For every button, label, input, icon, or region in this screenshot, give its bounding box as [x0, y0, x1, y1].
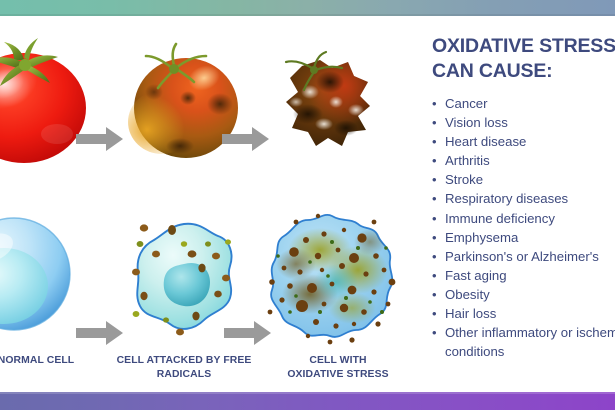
- oxidative-stress-cell-illustration: [266, 208, 402, 350]
- list-item: • Heart disease: [432, 132, 615, 151]
- list-item: • Arthritis: [432, 151, 615, 170]
- list-item: • Obesity: [432, 285, 615, 304]
- bullet-icon: •: [432, 209, 445, 228]
- list-item-label: Vision loss: [445, 113, 615, 132]
- list-item-label: Immune deficiency: [445, 209, 615, 228]
- bullet-icon: •: [432, 94, 445, 113]
- arrow-fresh-to-browning: [76, 126, 124, 152]
- rotten-tomato-illustration: [272, 44, 388, 162]
- bullet-icon: •: [432, 285, 445, 304]
- bullet-icon: •: [432, 189, 445, 208]
- bottom-gradient-bar: [0, 392, 615, 410]
- list-item: • Fast aging: [432, 266, 615, 285]
- causes-list: • Cancer • Vision loss • Heart disease •…: [432, 94, 615, 361]
- arrow-browning-to-rotten: [222, 126, 270, 152]
- bullet-icon: •: [432, 132, 445, 151]
- list-item: • Immune deficiency: [432, 209, 615, 228]
- list-item: • Parkinson's or Alzheimer's: [432, 247, 615, 266]
- list-item: • Respiratory diseases: [432, 189, 615, 208]
- list-item-label: Hair loss: [445, 304, 615, 323]
- list-item-label: Other inflammatory or ischemic: [445, 325, 615, 340]
- arrow-attacked-to-oxidative: [224, 320, 272, 346]
- caption-attacked-cell: CELL ATTACKED BY FREE RADICALS: [108, 354, 260, 381]
- list-item-label: Cancer: [445, 94, 615, 113]
- list-item-label: Arthritis: [445, 151, 615, 170]
- bullet-icon: •: [432, 113, 445, 132]
- oxidative-stress-panel: OXIDATIVE STRESS CAN CAUSE: • Cancer • V…: [432, 34, 615, 361]
- bullet-icon: •: [432, 228, 445, 247]
- top-gradient-bar: [0, 0, 615, 16]
- list-item: • Emphysema: [432, 228, 615, 247]
- list-item-label: Respiratory diseases: [445, 189, 615, 208]
- panel-title-line-1: OXIDATIVE STRESS: [432, 34, 615, 59]
- bullet-icon: •: [432, 247, 445, 266]
- list-item-label: Stroke: [445, 170, 615, 189]
- list-item-label: Emphysema: [445, 228, 615, 247]
- list-item: • Other inflammatory or ischemic conditi…: [432, 323, 615, 361]
- caption-oxidative-stress-cell: CELL WITH OXIDATIVE STRESS: [262, 354, 414, 381]
- caption-normal-cell: NORMAL CELL: [0, 354, 106, 368]
- list-item-label: Obesity: [445, 285, 615, 304]
- panel-title-line-2: CAN CAUSE:: [432, 59, 615, 84]
- bullet-icon: •: [432, 323, 445, 342]
- bullet-icon: •: [432, 170, 445, 189]
- bullet-icon: •: [432, 151, 445, 170]
- list-item: • Hair loss: [432, 304, 615, 323]
- bullet-icon: •: [432, 266, 445, 285]
- infographic-canvas: NORMAL CELL CELL ATTACKED BY FREE RADICA…: [0, 0, 615, 410]
- list-item-label: Parkinson's or Alzheimer's: [445, 247, 615, 266]
- list-item-label: Fast aging: [445, 266, 615, 285]
- list-item-label-continuation: conditions: [445, 342, 615, 361]
- bullet-icon: •: [432, 304, 445, 323]
- list-item: • Vision loss: [432, 113, 615, 132]
- list-item: • Stroke: [432, 170, 615, 189]
- list-item: • Cancer: [432, 94, 615, 113]
- arrow-normal-to-attacked: [76, 320, 124, 346]
- list-item-label: Heart disease: [445, 132, 615, 151]
